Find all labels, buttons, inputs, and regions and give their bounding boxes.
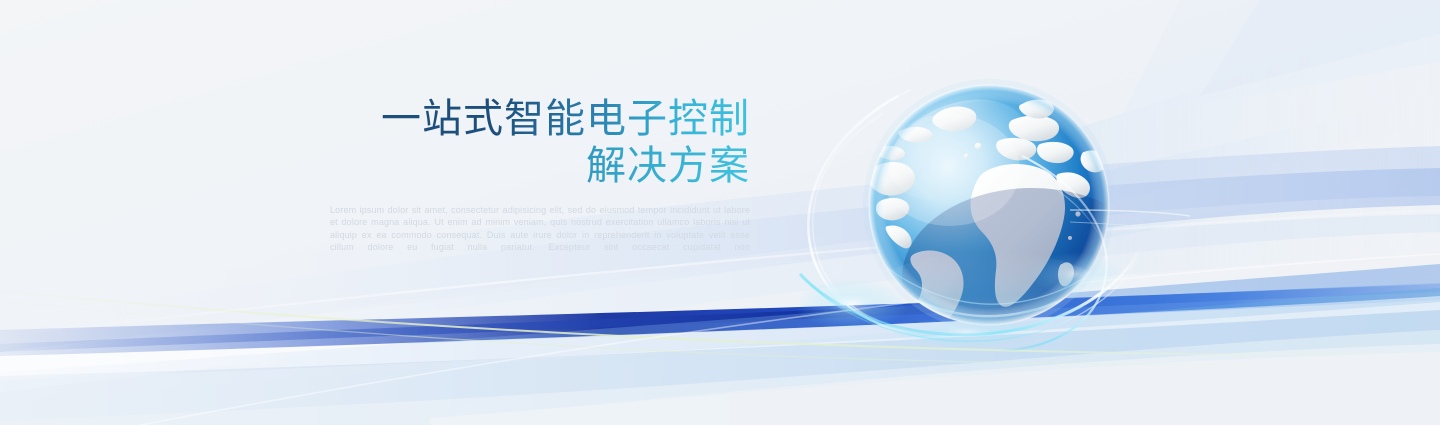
- headline-line-1: 一站式智能电子控制: [330, 96, 750, 143]
- globe-icon: [862, 78, 1116, 332]
- hero-banner: 一站式智能电子控制 解决方案 Lorem ipsum dolor sit ame…: [0, 0, 1440, 425]
- page-title: 一站式智能电子控制 解决方案: [330, 96, 750, 190]
- headline-line-2: 解决方案: [330, 143, 750, 190]
- hero-copy: 一站式智能电子控制 解决方案 Lorem ipsum dolor sit ame…: [330, 96, 750, 254]
- lead-paragraph: Lorem ipsum dolor sit amet, consectetur …: [330, 204, 750, 254]
